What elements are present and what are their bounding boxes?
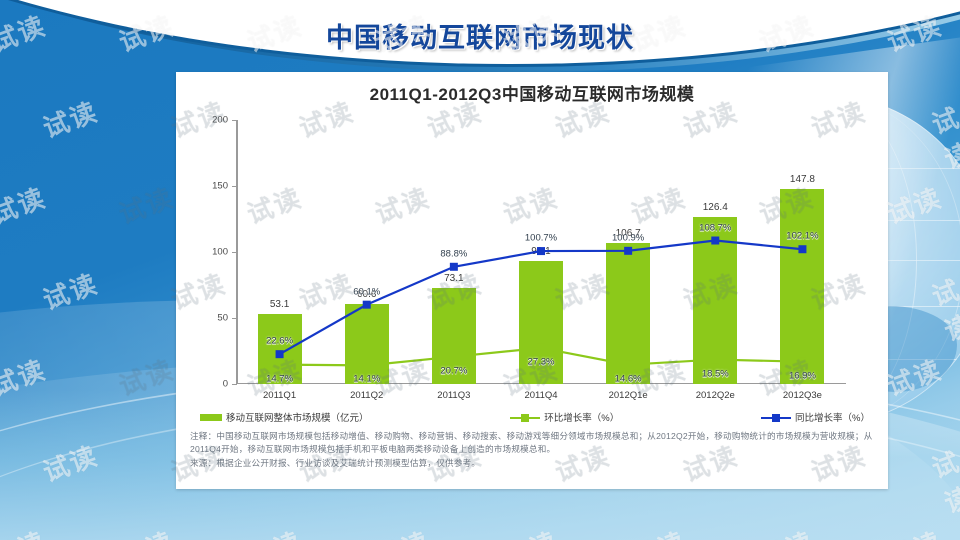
yoy-growth-label: 102.1% xyxy=(786,231,818,242)
x-axis-tick-label: 2011Q3 xyxy=(437,390,470,401)
yoy-growth-marker[interactable] xyxy=(276,350,284,358)
legend-item[interactable]: 移动互联网整体市场规模（亿元） xyxy=(200,410,369,424)
qoq-growth-marker[interactable] xyxy=(363,361,371,369)
legend-label: 移动互联网整体市场规模（亿元） xyxy=(226,410,369,424)
qoq-growth-marker[interactable] xyxy=(624,361,632,369)
chart-card: 2011Q1-2012Q3中国移动互联网市场规模 050100150200 53… xyxy=(176,72,888,489)
qoq-growth-label: 20.7% xyxy=(440,365,467,376)
yoy-growth-label: 100.7% xyxy=(525,233,557,244)
qoq-growth-label: 14.1% xyxy=(353,374,380,385)
y-axis-tick-label: 200 xyxy=(212,115,228,126)
qoq-growth-marker[interactable] xyxy=(537,344,545,352)
legend-swatch-line xyxy=(761,413,791,422)
legend-label: 环比增长率（%） xyxy=(544,410,619,424)
chart-title: 2011Q1-2012Q3中国移动互联网市场规模 xyxy=(176,80,888,105)
yoy-growth-line xyxy=(280,241,803,355)
yoy-growth-label: 88.8% xyxy=(440,248,467,259)
legend-label: 同比增长率（%） xyxy=(795,410,870,424)
qoq-growth-marker[interactable] xyxy=(450,353,458,361)
chart-footnote: 注释：中国移动互联网市场规模包括移动增值、移动购物、移动营销、移动搜索、移动游戏… xyxy=(190,430,880,470)
chart-plot-area: 050100150200 53.160.673.193.1106.7126.41… xyxy=(236,120,846,384)
qoq-growth-label: 14.7% xyxy=(266,373,293,384)
yoy-growth-label: 108.7% xyxy=(699,222,731,233)
qoq-growth-marker[interactable] xyxy=(711,356,719,364)
qoq-growth-label: 18.5% xyxy=(702,368,729,379)
yoy-growth-label: 22.6% xyxy=(266,336,293,347)
x-axis-tick-label: 2012Q3e xyxy=(783,390,822,401)
footnote-line: 来源：根据企业公开财报、行业访谈及艾瑞统计预测模型估算，仅供参考。 xyxy=(190,457,880,470)
yoy-growth-marker[interactable] xyxy=(624,247,632,255)
y-axis-tick-label: 50 xyxy=(217,313,228,324)
x-axis-tick-label: 2012Q1e xyxy=(609,390,648,401)
slide: 中国移动互联网市场现状 2011Q1-2012Q3中国移动互联网市场规模 050… xyxy=(0,0,960,540)
yoy-growth-marker[interactable] xyxy=(711,237,719,245)
footnote-line: 注释：中国移动互联网市场规模包括移动增值、移动购物、移动营销、移动搜索、移动游戏… xyxy=(190,430,880,457)
qoq-growth-label: 16.9% xyxy=(789,370,816,381)
legend-item[interactable]: 同比增长率（%） xyxy=(761,410,870,424)
page-title: 中国移动互联网市场现状 xyxy=(0,16,960,55)
line-series xyxy=(236,120,846,384)
x-axis-tick-label: 2011Q1 xyxy=(263,390,296,401)
yoy-growth-marker[interactable] xyxy=(450,263,458,271)
yoy-growth-marker[interactable] xyxy=(363,301,371,309)
x-axis-tick-label: 2011Q4 xyxy=(524,390,557,401)
y-axis-tick-label: 100 xyxy=(212,247,228,258)
y-axis-tick-label: 150 xyxy=(212,181,228,192)
legend-item[interactable]: 环比增长率（%） xyxy=(510,410,619,424)
qoq-growth-marker[interactable] xyxy=(276,361,284,369)
chart-legend: 移动互联网整体市场规模（亿元）环比增长率（%）同比增长率（%） xyxy=(200,410,870,424)
legend-swatch-line xyxy=(510,413,540,422)
x-axis-tick-label: 2011Q2 xyxy=(350,390,383,401)
yoy-growth-marker[interactable] xyxy=(537,247,545,255)
yoy-growth-label: 100.9% xyxy=(612,232,644,243)
y-axis-tick-mark xyxy=(232,384,237,385)
yoy-growth-label: 60.1% xyxy=(353,286,380,297)
yoy-growth-marker[interactable] xyxy=(798,245,806,253)
x-axis-tick-label: 2012Q2e xyxy=(696,390,735,401)
qoq-growth-label: 27.3% xyxy=(528,356,555,367)
y-axis-tick-label: 0 xyxy=(223,379,228,390)
legend-swatch-bar xyxy=(200,414,222,421)
qoq-growth-label: 14.6% xyxy=(615,373,642,384)
qoq-growth-marker[interactable] xyxy=(798,358,806,366)
